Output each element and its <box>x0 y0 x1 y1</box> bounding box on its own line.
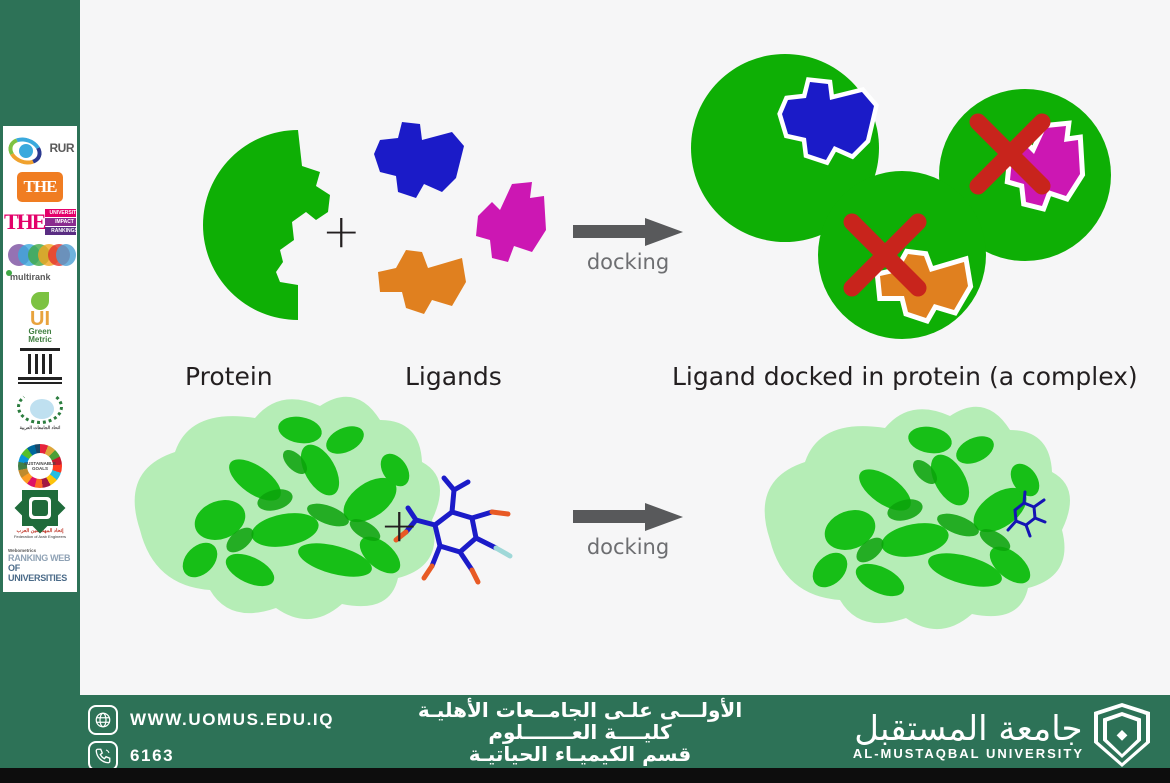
globe-www-icon <box>88 705 118 735</box>
sdg-wheel-logo: SUSTAINABLE GOALS <box>18 444 62 488</box>
university-name-arabic: جامعة المستقبل <box>853 710 1084 748</box>
university-name-english: AL-MUSTAQBAL UNIVERSITY <box>853 746 1084 761</box>
docking-arrow-group-top: docking <box>568 218 688 274</box>
the-logo-text: THE <box>24 177 57 197</box>
footer-arabic-line-3: قسم الكيميـاء الحياتيـة <box>380 743 780 765</box>
sidebar-item-pillars-logo <box>4 344 76 388</box>
footer-bottom-bar <box>0 768 1170 783</box>
webometrics-line2-text: OF UNIVERSITIES <box>8 563 76 583</box>
webometrics-logo: Webometrics RANKING WEB OF UNIVERSITIES <box>4 548 76 584</box>
footer-arabic-line-1: الأولـــى علـى الجامــعات الأهليـة <box>380 699 780 721</box>
sidebar-logo-list: RUR THE THE UNIVERSITY IMPACT RANKINGS <box>3 126 77 592</box>
sidebar-item-federation-arab-engineers-logo: إتحاد المهندسين العرب Federation of Arab… <box>4 490 76 546</box>
plus-symbol-top: + <box>322 208 361 254</box>
shield-glyph: ◆ <box>1117 727 1128 743</box>
footer-contact-block: WWW.UOMUS.EDU.IQ 6163 <box>88 705 334 777</box>
sidebar-item-sdg-wheel-logo: SUSTAINABLE GOALS <box>4 444 76 488</box>
sidebar-item-the-impact-rankings-logo: THE UNIVERSITY IMPACT RANKINGS <box>4 204 76 240</box>
ui-greenmetric-logo: UI Green Metric World University Ranking <box>4 290 76 342</box>
multirank-circle-6-icon <box>56 244 76 266</box>
docking-label-top: docking <box>568 250 688 274</box>
footer-website-label: WWW.UOMUS.EDU.IQ <box>130 710 334 730</box>
federation-arab-engineers-logo: إتحاد المهندسين العرب Federation of Arab… <box>4 490 76 546</box>
footer-phone-label: 6163 <box>130 746 174 766</box>
the-impact-rankings-logo: THE UNIVERSITY IMPACT RANKINGS <box>4 204 76 240</box>
protein-ligand-complex-3d-render <box>765 407 1070 629</box>
sidebar-item-ui-greenmetric-logo: UI Green Metric World University Ranking <box>4 290 76 342</box>
sidebar-accreditation-panel: RUR THE THE UNIVERSITY IMPACT RANKINGS <box>0 0 80 783</box>
complex-orange-rejected <box>818 171 986 339</box>
ligand-orange-free <box>378 250 466 314</box>
footer-university-brand: جامعة المستقبل AL-MUSTAQBAL UNIVERSITY ◆ <box>853 703 1150 767</box>
eight-point-star-icon <box>22 490 58 526</box>
rur-ranking-logo: RUR <box>4 130 76 170</box>
impact-bar-university: UNIVERSITY <box>45 209 76 217</box>
sdg-center-text: SUSTAINABLE GOALS <box>27 453 53 479</box>
phone-ring-icon <box>88 741 118 771</box>
rur-logo-text: RUR <box>50 141 75 155</box>
federation-english-text: Federation of Arab Engineers <box>4 534 76 539</box>
sidebar-item-the-logo: THE <box>4 172 76 202</box>
rur-globe-icon <box>19 144 33 158</box>
pillars-logo <box>4 344 76 388</box>
impact-bar-impact: IMPACT <box>45 218 76 226</box>
university-name-block: جامعة المستقبل AL-MUSTAQBAL UNIVERSITY <box>853 710 1084 761</box>
docking-arrow-group-bottom: docking <box>568 503 688 559</box>
the-impact-bars: UNIVERSITY IMPACT RANKINGS <box>45 209 76 235</box>
u-multirank-logo: multirank <box>4 242 76 288</box>
docking-diagram-graphic <box>80 0 1170 695</box>
arab-universities-union-logo: اتحاد الجامعات العربية <box>4 390 76 442</box>
university-shield-emblem: ◆ <box>1094 703 1150 767</box>
wreath-icon <box>17 390 63 424</box>
slide-footer: WWW.UOMUS.EDU.IQ 6163 الأولـــى علـى الج… <box>0 695 1170 783</box>
wreath-globe-icon <box>30 399 54 419</box>
plus-symbol-bottom: + <box>380 502 419 548</box>
ligand-magenta-free <box>476 182 546 262</box>
impact-bar-rankings: RANKINGS <box>45 227 76 235</box>
docking-arrow-top-icon <box>573 218 683 244</box>
sidebar-item-webometrics-logo: Webometrics RANKING WEB OF UNIVERSITIES <box>4 548 76 584</box>
footer-phone-row[interactable]: 6163 <box>88 741 334 771</box>
footer-website-row[interactable]: WWW.UOMUS.EDU.IQ <box>88 705 334 735</box>
pillars-roof-icon <box>20 348 60 351</box>
sidebar-item-u-multirank-logo: multirank <box>4 242 76 288</box>
the-logo: THE <box>17 172 63 202</box>
greenmetric-ui-text: UI <box>4 310 76 328</box>
ligand-blue-free <box>374 122 464 198</box>
protein-c-shape <box>203 130 330 320</box>
label-ligands: Ligands <box>405 362 502 391</box>
slide-content-area: + + docking docking Protein Ligands Liga… <box>80 0 1170 695</box>
footer-arabic-block: الأولـــى علـى الجامــعات الأهليـة كليــ… <box>380 699 780 765</box>
label-protein: Protein <box>185 362 273 391</box>
footer-arabic-line-2: كليــــة العـــــــلوم <box>380 721 780 743</box>
multirank-logo-text: multirank <box>10 272 51 282</box>
sidebar-item-rur-ranking-logo: RUR <box>4 130 76 170</box>
docking-arrow-bottom-icon <box>573 503 683 529</box>
star-core-icon <box>32 500 48 516</box>
greenmetric-metric-text: Metric <box>4 336 76 342</box>
label-complex: Ligand docked in protein (a complex) <box>672 362 1138 391</box>
pillars-base-icon <box>18 377 62 380</box>
presentation-slide: RUR THE THE UNIVERSITY IMPACT RANKINGS <box>0 0 1170 783</box>
the-impact-mark-text: THE <box>4 209 44 235</box>
webometrics-line1-text: RANKING WEB <box>8 553 76 563</box>
docking-label-bottom: docking <box>568 535 688 559</box>
pillars-base-shadow-icon <box>18 382 62 384</box>
sidebar-item-arab-universities-union-logo: اتحاد الجامعات العربية <box>4 390 76 442</box>
pillars-columns-icon <box>28 354 52 374</box>
arab-union-caption: اتحاد الجامعات العربية <box>4 425 76 431</box>
